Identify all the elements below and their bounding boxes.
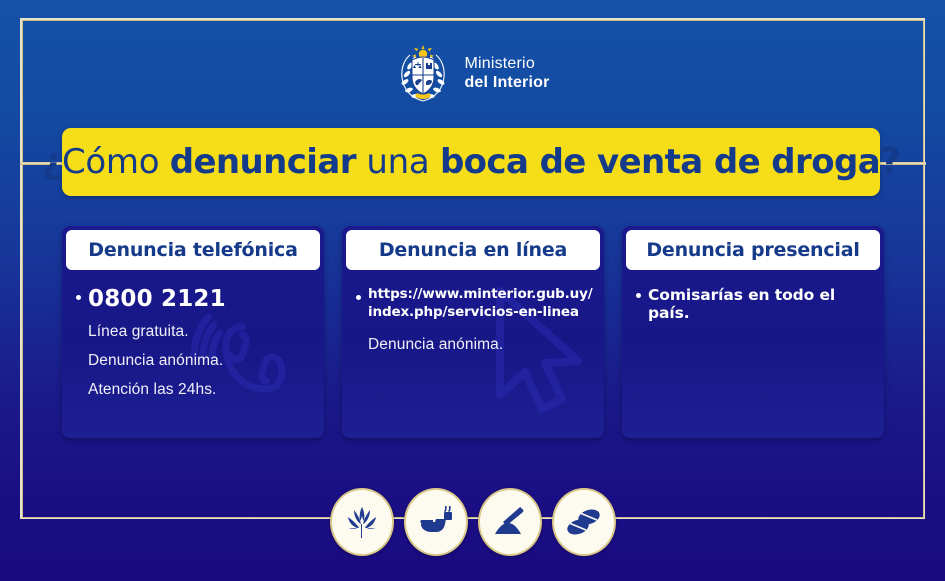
powder-line-icon — [493, 506, 527, 538]
denuncia-url[interactable]: https://www.minterior.gub.uy/ index.php/… — [368, 286, 593, 322]
icon-bubble-pills — [552, 488, 616, 556]
bullet-dot-icon — [636, 293, 641, 298]
title-part-2: denunciar — [170, 142, 356, 182]
card-body-presencial: Comisarías en todo el país. — [622, 270, 884, 322]
icon-bubble-cannabis — [330, 488, 394, 556]
card-header-presencial: Denuncia presencial — [626, 230, 880, 270]
url-line-2: index.php/servicios-en-linea — [368, 304, 579, 320]
icon-bubble-powder — [478, 488, 542, 556]
ministry-logo: Ministerio del Interior — [0, 44, 945, 104]
title-banner: ¿Cómo denunciar una boca de venta de dro… — [62, 128, 880, 196]
bullet-item: Comisarías en todo el país. — [636, 286, 870, 322]
card-body-en-linea: https://www.minterior.gub.uy/ index.php/… — [342, 270, 604, 354]
card-title: Denuncia presencial — [646, 239, 859, 261]
bullet-dot-icon — [356, 295, 361, 300]
ministry-name-line1: Ministerio — [464, 55, 549, 74]
card-title: Denuncia en línea — [379, 239, 567, 261]
card-header-en-linea: Denuncia en línea — [346, 230, 600, 270]
bullet-item: 0800 2121 — [76, 286, 310, 312]
card-body-telefonica: 0800 2121 Línea gratuita. Denuncia anóni… — [62, 270, 324, 399]
poster-canvas: Ministerio del Interior ¿Cómo denunciar … — [0, 0, 945, 581]
card-line: Denuncia anónima. — [368, 336, 590, 354]
card-title: Denuncia telefónica — [88, 239, 297, 261]
page-title: ¿Cómo denunciar una boca de venta de dro… — [42, 144, 901, 180]
channels-card-group: Denuncia telefónica 0800 2121 Línea grat… — [62, 226, 884, 438]
bullet-dot-icon — [76, 295, 81, 300]
title-open-question: ¿ — [42, 141, 62, 182]
title-part-3: una — [356, 142, 440, 182]
ministry-logo-text: Ministerio del Interior — [464, 55, 549, 93]
card-line: Línea gratuita. — [88, 323, 310, 341]
url-line-1: https://www.minterior.gub.uy/ — [368, 286, 593, 302]
title-part-4: boca de venta de droga — [440, 142, 880, 182]
comisarias-text: Comisarías en todo el país. — [648, 286, 870, 322]
drug-icon-row — [0, 488, 945, 556]
card-denuncia-en-linea: Denuncia en línea https://www.minterior.… — [342, 226, 604, 438]
cannabis-leaf-icon — [346, 505, 378, 539]
card-denuncia-telefonica: Denuncia telefónica 0800 2121 Línea grat… — [62, 226, 324, 438]
uruguay-coat-of-arms-icon — [395, 44, 451, 104]
title-part-1: Cómo — [62, 142, 170, 182]
pills-icon — [566, 507, 602, 537]
card-line: Atención las 24hs. — [88, 381, 310, 399]
title-close-question: ? — [880, 141, 900, 182]
bullet-item: https://www.minterior.gub.uy/ index.php/… — [356, 286, 590, 322]
icon-bubble-pipe — [404, 488, 468, 556]
card-line: Denuncia anónima. — [88, 352, 310, 370]
phone-number: 0800 2121 — [88, 286, 226, 312]
ministry-name-line2: del Interior — [464, 74, 549, 93]
card-header-telefonica: Denuncia telefónica — [66, 230, 320, 270]
card-denuncia-presencial: Denuncia presencial Comisarías en todo e… — [622, 226, 884, 438]
smoking-pipe-icon — [418, 506, 454, 538]
